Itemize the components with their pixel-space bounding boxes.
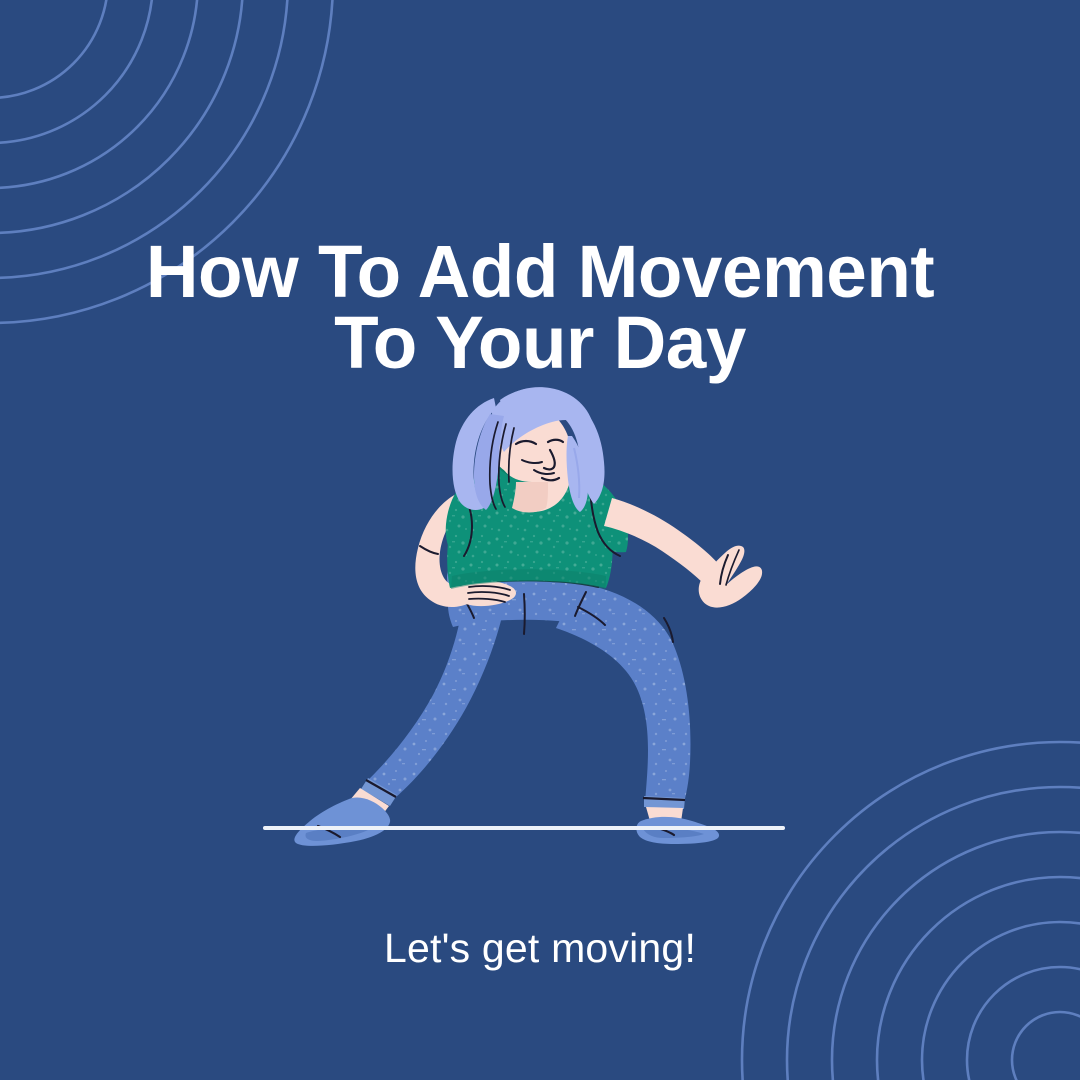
page-title-line-1: How To Add Movement (8, 236, 1072, 308)
poster-canvas: How To Add Movement To Your Day (0, 0, 1080, 1080)
caption-text: Let's get moving! (0, 925, 1080, 972)
figure-right-arm (604, 498, 762, 608)
ground-line (263, 826, 785, 830)
woman-stretching-illustration (260, 378, 800, 848)
page-title-line-2: To Your Day (8, 307, 1072, 379)
page-title: How To Add Movement To Your Day (8, 236, 1072, 380)
